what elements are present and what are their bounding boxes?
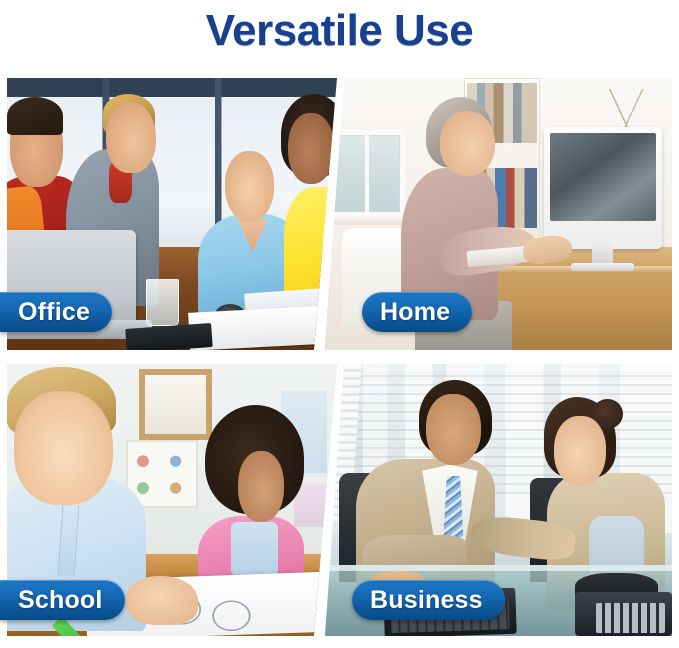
label-badge-office[interactable]: Office bbox=[0, 292, 112, 332]
student-girl-head bbox=[238, 451, 284, 522]
photo-collage bbox=[7, 78, 672, 636]
monitor-stand-foot bbox=[571, 263, 633, 271]
person-red-shirt-hair bbox=[7, 97, 63, 135]
person-blue-sweater-head bbox=[225, 151, 275, 222]
home-window bbox=[328, 130, 404, 217]
versatile-use-infographic: Versatile Use bbox=[0, 0, 679, 648]
label-badge-school[interactable]: School bbox=[0, 580, 125, 620]
page-title: Versatile Use bbox=[0, 2, 679, 60]
label-badge-home[interactable]: Home bbox=[362, 292, 472, 332]
water-glass bbox=[146, 279, 179, 325]
monitor-screen bbox=[550, 133, 656, 221]
student-boy-head bbox=[14, 391, 113, 505]
desktop-monitor bbox=[544, 127, 662, 249]
person-grey-shirt-head bbox=[106, 102, 156, 173]
label-badge-business[interactable]: Business bbox=[352, 580, 505, 620]
glass-desk-edge bbox=[325, 565, 672, 570]
student-boy-hand bbox=[126, 576, 199, 625]
classroom-whiteboard bbox=[139, 369, 212, 440]
desk-phone-keypad bbox=[596, 603, 665, 633]
person-yellow-top-head bbox=[288, 113, 334, 184]
classroom-poster-secondary bbox=[294, 484, 330, 528]
seated-woman-head bbox=[440, 111, 496, 176]
student-girl-overalls bbox=[231, 522, 277, 576]
businesswoman-head bbox=[554, 416, 606, 487]
businessman-head bbox=[426, 394, 482, 465]
